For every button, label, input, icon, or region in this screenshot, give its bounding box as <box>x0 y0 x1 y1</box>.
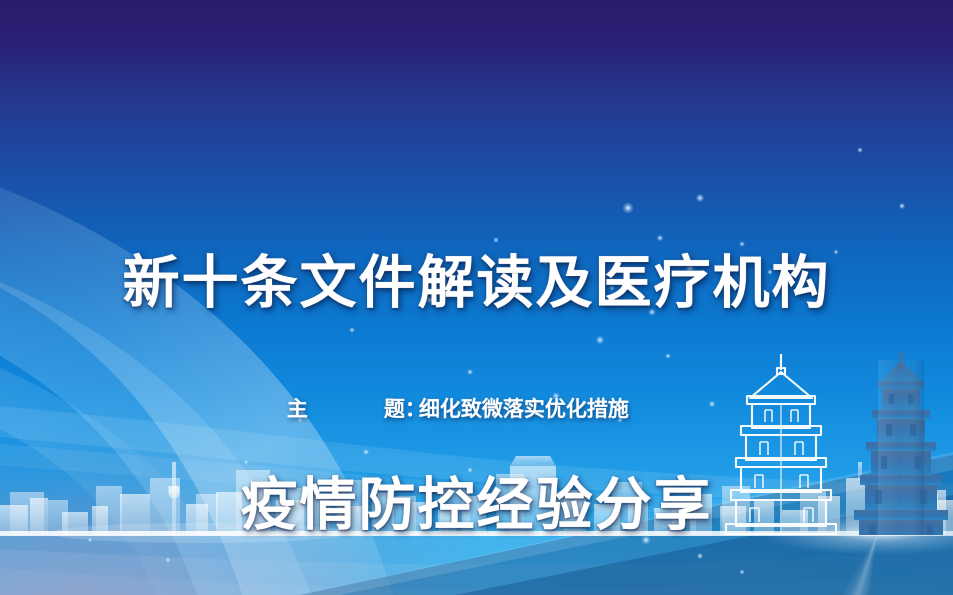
info-colon-topic: ： <box>405 392 419 426</box>
poster-slide: 新十条文件解读及医疗机构 疫情防控经验分享 主题：细化致微落实优化措施 主办单位… <box>0 0 953 595</box>
info-label-topic: 主题 <box>287 392 405 426</box>
info-row-topic-cont: 主办单位：疫情防控转段平稳有序 <box>243 562 734 595</box>
info-value-topic: 细化致微落实优化措施 <box>419 392 629 426</box>
info-row-topic: 主题：细化致微落实优化措施 <box>243 358 734 460</box>
poster-info-block: 主题：细化致微落实优化措施 主办单位：疫情防控转段平稳有序 主办单位：陕西省医院… <box>243 256 734 595</box>
